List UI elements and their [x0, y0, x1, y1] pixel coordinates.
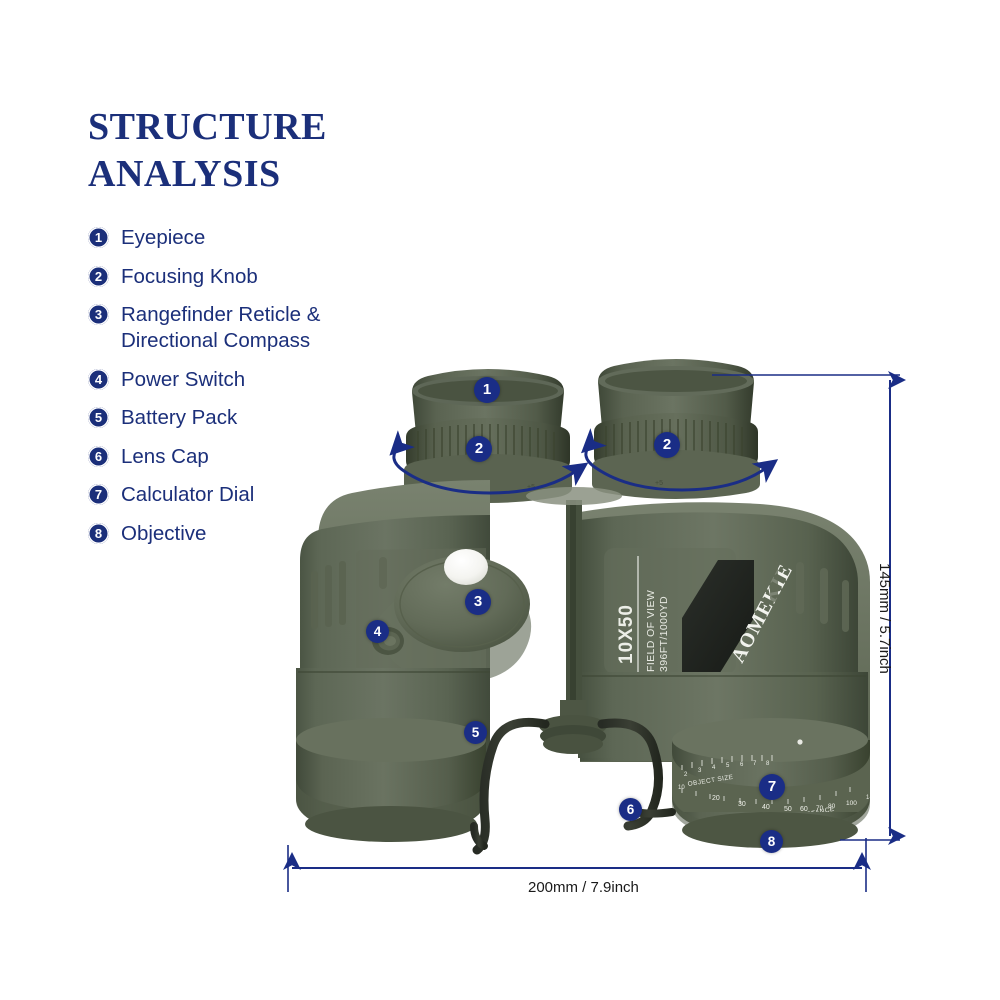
barrel-left-top [296, 718, 486, 762]
dial-d-20: 20 [712, 795, 720, 802]
callout-4-power-switch: 4 [366, 620, 389, 643]
barrel-right-top [672, 718, 868, 762]
callout-7-calculator-dial: 7 [759, 774, 785, 800]
callout-8-objective: 8 [760, 830, 783, 853]
callout-2-right-focusing-knob: 2 [654, 432, 680, 458]
eyepiece-right-collar [592, 450, 760, 499]
structure-analysis-page: STRUCTURE ANALYSIS 1 Eyepiece 2 Focusing… [0, 0, 1000, 1000]
binoculars-illustration: +5 +5 [0, 0, 1000, 1000]
spec-fov-label: FIELD OF VIEW [645, 590, 657, 672]
callout-5-battery-pack: 5 [464, 721, 487, 744]
dial-d-100: 100 [846, 800, 857, 807]
eyecup-right-inner [605, 370, 747, 392]
dial-d-140: 140 [866, 795, 877, 801]
barrel-index-dot [797, 739, 802, 744]
dial-d-50: 50 [784, 806, 792, 813]
callout-3-rangefinder-compass: 3 [465, 589, 491, 615]
hinge-top-cap [526, 487, 622, 505]
dimension-width-label: 200mm / 7.9inch [528, 879, 639, 896]
callout-1-eyepiece: 1 [474, 377, 500, 403]
dial-d-40: 40 [762, 804, 770, 811]
spec-magnification: 10X50 [616, 604, 637, 664]
spec-text-group: 10X50 [616, 604, 637, 664]
spec-fov-group: FIELD OF VIEW 396FT/1000YD [645, 590, 670, 672]
diopter-mark-right: +5 [655, 480, 663, 487]
body-left [296, 480, 531, 758]
callout-2-left-focusing-knob: 2 [466, 436, 492, 462]
objective-barrel-left [296, 718, 486, 842]
spec-fov-value: 396FT/1000YD [658, 596, 670, 672]
dial-d-10: 10 [678, 785, 685, 791]
compass-illumination-window [444, 549, 488, 585]
dimension-height-label: 145mm / 5.7inch [876, 563, 893, 674]
dial-d-30: 30 [738, 801, 746, 808]
barrel-left-bottom [305, 806, 477, 842]
callout-6-lens-cap: 6 [619, 798, 642, 821]
